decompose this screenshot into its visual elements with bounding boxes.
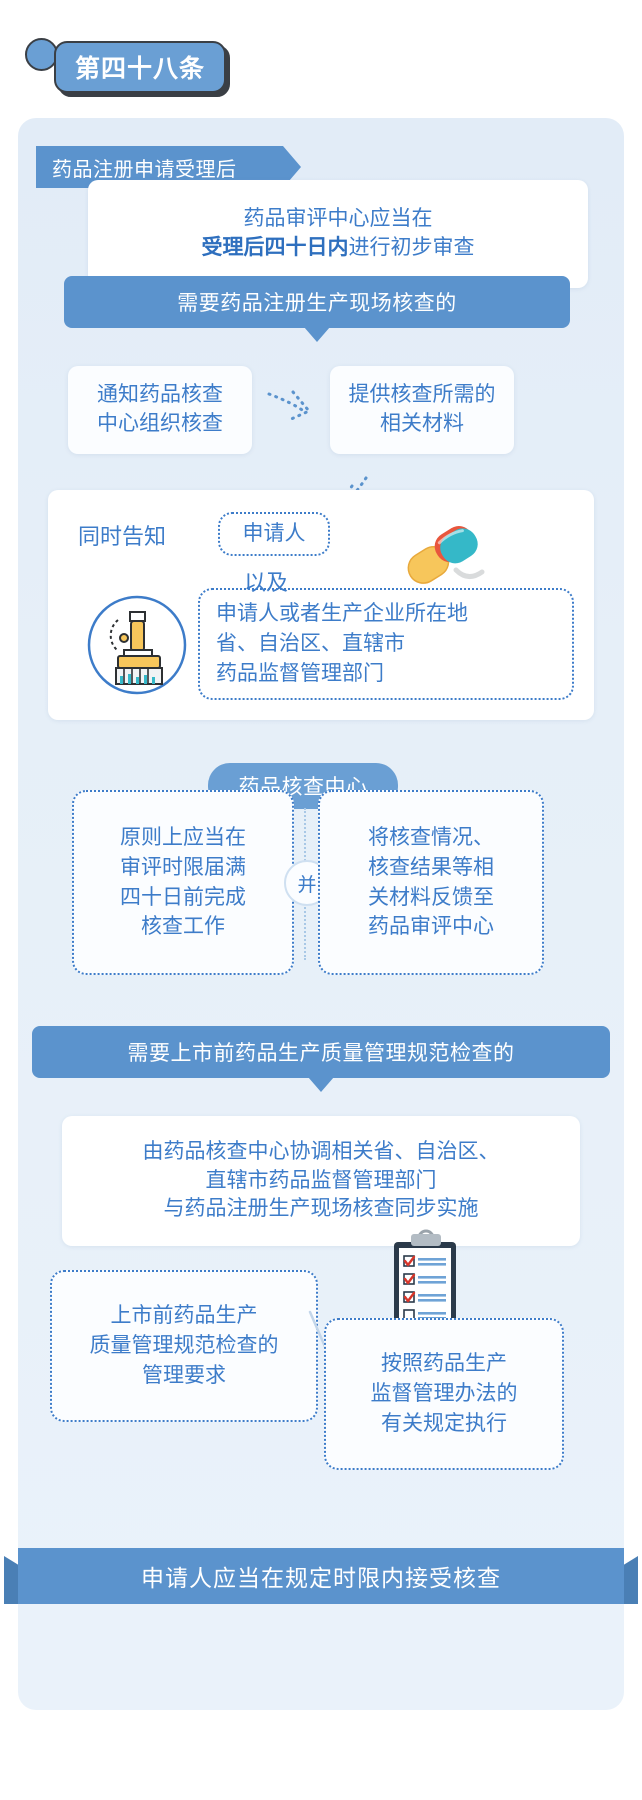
section4-left-text: 上市前药品生产 质量管理规范检查的 管理要求 [52,1272,316,1420]
s3-left-line1: 原则上应当在 [120,823,246,853]
branch-right-line2: 相关材料 [380,410,464,439]
authority-line3: 药品监督管理部门 [216,659,384,689]
section1-statement-rest: 进行初步审查 [349,236,475,259]
s4-right-line3: 有关规定执行 [381,1409,507,1439]
s3-left-line3: 四十日前完成 [120,883,246,913]
s4-left-line3: 管理要求 [142,1361,226,1391]
footer-banner: 申请人应当在规定时限内接受核查 [18,1548,624,1604]
section1-condition-label: 需要药品注册生产现场核查的 [177,287,457,317]
authority-line1: 申请人或者生产企业所在地 [216,599,468,629]
s3-right-line2: 核查结果等相 [368,853,494,883]
section1-statement-text: 药品审评中心应当在 受理后四十日内进行初步审查 [88,180,588,288]
s4-left-line2: 质量管理规范检查的 [90,1331,279,1361]
page-header: 第四十八条 [0,0,642,118]
section3-left-box: 原则上应当在 审评时限届满 四十日前完成 核查工作 [72,790,294,975]
s3-left-line2: 审评时限届满 [120,853,246,883]
branch-left-line2: 中心组织核查 [97,410,223,439]
section4-right-text: 按照药品生产 监督管理办法的 有关规定执行 [326,1320,562,1468]
s4-left-line1: 上市前药品生产 [111,1301,258,1331]
microscope-icon [86,594,188,696]
footer-banner-label: 申请人应当在规定时限内接受核查 [141,1559,501,1593]
authority-line2: 省、自治区、直辖市 [216,629,405,659]
article-number-chip: 第四十八条 [54,41,226,93]
s3-right-line1: 将核查情况、 [368,823,494,853]
section3-right-text: 将核查情况、 核查结果等相 关材料反馈至 药品审评中心 [320,792,542,973]
tab-pointer-icon [304,327,330,342]
section4-condition-tab: 需要上市前药品生产质量管理规范检查的 [32,1026,610,1078]
section4-right-box: 按照药品生产 监督管理办法的 有关规定执行 [324,1318,564,1470]
infographic-card: 药品注册申请受理后 药品审评中心应当在 受理后四十日内进行初步审查 需要药品注册… [18,118,624,1710]
section1-condition-tab: 需要药品注册生产现场核查的 [64,276,570,328]
s4-stmt-line2: 直辖市药品监督管理部门 [206,1167,437,1196]
section1-branch-right: 提供核查所需的 相关材料 [330,366,514,454]
applicant-chip-label: 申请人 [220,514,328,554]
s3-right-line4: 药品审评中心 [368,912,494,942]
s4-right-line2: 监督管理办法的 [371,1379,518,1409]
section4-statement-text: 由药品核查中心协调相关省、自治区、 直辖市药品监督管理部门 与药品注册生产现场核… [62,1116,580,1246]
s3-left-line4: 核查工作 [141,912,225,942]
applicant-chip: 申请人 [218,512,330,556]
section3-right-box: 将核查情况、 核查结果等相 关材料反馈至 药品审评中心 [318,790,544,975]
s4-stmt-line3: 与药品注册生产现场核查同步实施 [164,1195,479,1224]
section2-panel: 同时告知 申请人 以及 [48,490,594,720]
branch-right-line1: 提供核查所需的 [349,381,496,410]
s4-stmt-line1: 由药品核查中心协调相关省、自治区、 [143,1138,500,1167]
article-number-label: 第四十八条 [75,49,205,85]
section1-statement-panel: 药品审评中心应当在 受理后四十日内进行初步审查 [88,180,588,288]
section1-branch-left: 通知药品核查 中心组织核查 [68,366,252,454]
section1-branch-right-text: 提供核查所需的 相关材料 [330,366,514,454]
dotted-arrow-right-icon [263,380,323,440]
authority-box: 申请人或者生产企业所在地 省、自治区、直辖市 药品监督管理部门 [198,588,574,700]
s4-right-line1: 按照药品生产 [381,1349,507,1379]
section3-connector-label: 并 [297,870,316,897]
section1-statement-line2: 受理后四十日内进行初步审查 [202,234,475,263]
branch-left-line1: 通知药品核查 [97,381,223,410]
section4-left-box: 上市前药品生产 质量管理规范检查的 管理要求 [50,1270,318,1422]
notify-label: 同时告知 [78,522,166,552]
section1-statement-bold: 受理后四十日内 [202,236,349,259]
section4-condition-label: 需要上市前药品生产质量管理规范检查的 [128,1037,515,1067]
section1-statement-line1: 药品审评中心应当在 [244,205,433,234]
authority-text: 申请人或者生产企业所在地 省、自治区、直辖市 药品监督管理部门 [200,590,572,698]
capsule-pill-icon [396,520,492,588]
section1-branch-left-text: 通知药品核查 中心组织核查 [68,366,252,454]
section1-ribbon-label: 药品注册申请受理后 [52,153,237,182]
section3-left-text: 原则上应当在 审评时限届满 四十日前完成 核查工作 [74,792,292,973]
s3-right-line3: 关材料反馈至 [368,883,494,913]
tab-pointer-icon-2 [308,1077,334,1092]
section4-statement-panel: 由药品核查中心协调相关省、自治区、 直辖市药品监督管理部门 与药品注册生产现场核… [62,1116,580,1246]
